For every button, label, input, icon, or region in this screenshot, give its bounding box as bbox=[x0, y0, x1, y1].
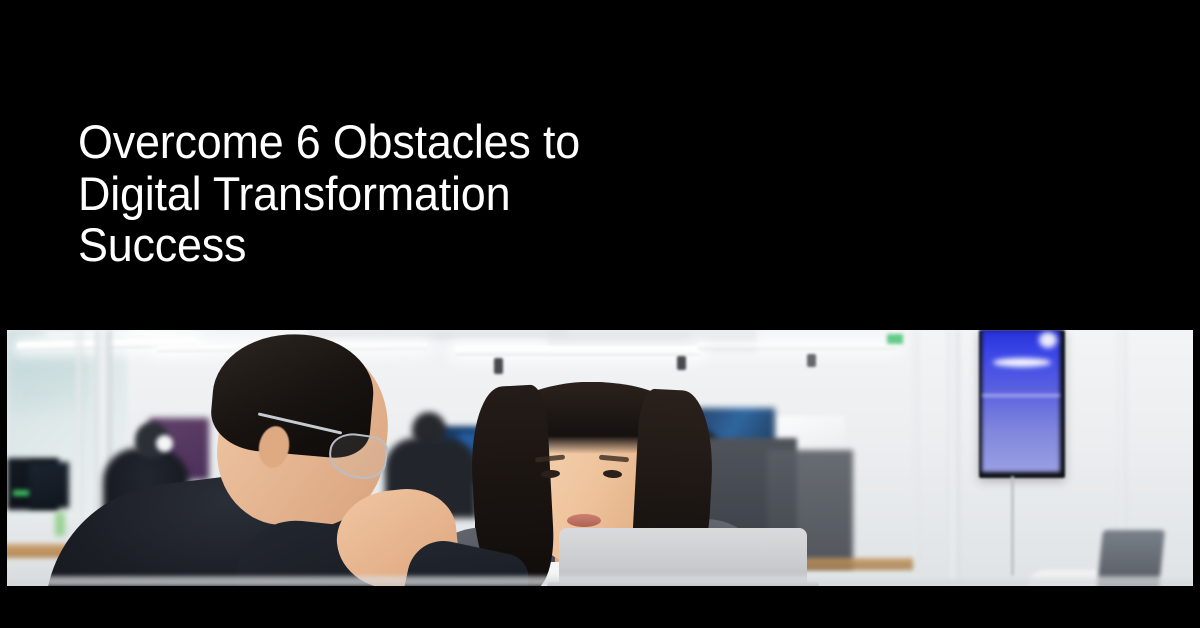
headline-line-3: Success bbox=[78, 219, 747, 271]
foreground-desk-edge bbox=[7, 576, 1193, 586]
exit-sign bbox=[887, 334, 903, 344]
wall-display-cable bbox=[1011, 476, 1014, 576]
ceiling-light-bar-3 bbox=[455, 346, 700, 356]
ceiling-beam bbox=[307, 330, 567, 340]
monitor-green-indicator bbox=[13, 490, 29, 496]
monitor-green-glow bbox=[55, 512, 65, 536]
structural-column-4 bbox=[912, 330, 919, 586]
woman-mouth bbox=[567, 514, 601, 527]
pendant-light-3 bbox=[807, 354, 816, 367]
headline-line-1: Overcome 6 Obstacles to bbox=[78, 116, 747, 168]
wall-display-screen bbox=[982, 330, 1060, 472]
background-monitor-left-2 bbox=[29, 462, 69, 508]
wall-display-seam bbox=[982, 394, 1060, 397]
hero-photo bbox=[7, 330, 1193, 586]
pendant-light-1 bbox=[494, 358, 503, 374]
ceiling-light-bar-4 bbox=[697, 342, 897, 350]
headline-line-2: Digital Transformation bbox=[78, 168, 747, 220]
structural-column-3 bbox=[947, 330, 960, 586]
social-share-card: Overcome 6 Obstacles to Digital Transfor… bbox=[0, 0, 1200, 628]
wall-display-highlight bbox=[1039, 332, 1057, 348]
page-title: Overcome 6 Obstacles to Digital Transfor… bbox=[78, 116, 778, 271]
pendant-light-2 bbox=[677, 356, 686, 370]
wall-display-glare bbox=[993, 358, 1051, 367]
background-person-1-face-mask bbox=[156, 435, 173, 452]
